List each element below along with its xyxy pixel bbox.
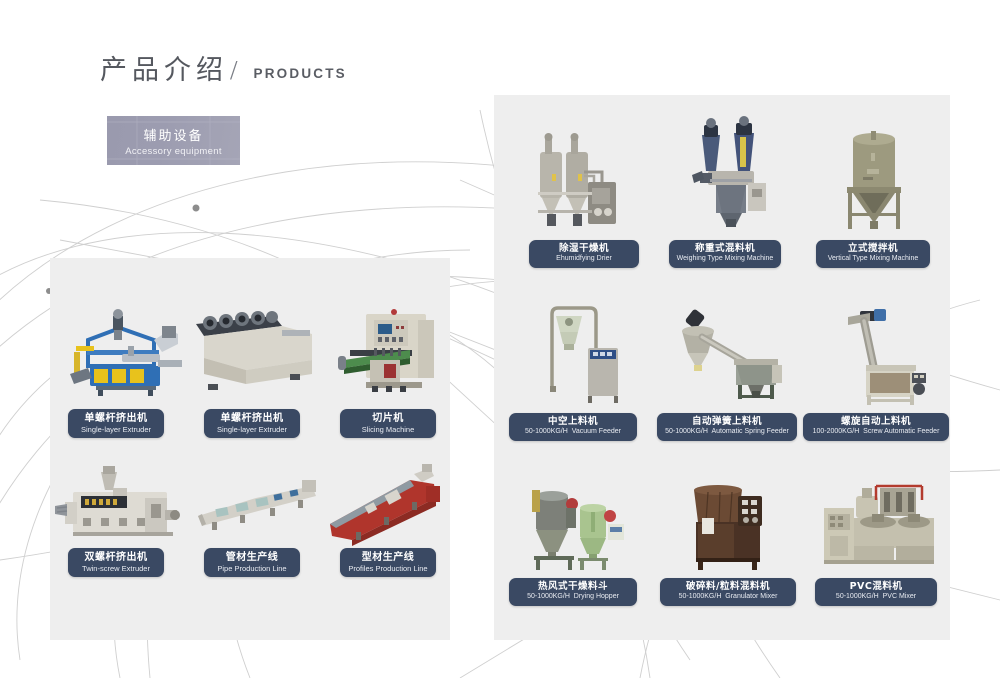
label-cn: 破碎料/粒料混料机: [686, 582, 770, 593]
capacity: 50-1000KG/H: [665, 428, 708, 435]
product-label-vertical-mixing-machine[interactable]: 立式搅拌机 Vertical Type Mixing Machine: [816, 240, 930, 268]
product-card-weighing-mixing-machine[interactable]: [682, 115, 778, 230]
product-label-profiles-production-line[interactable]: 型材生产线 Profiles Production Line: [340, 548, 436, 577]
label-cn: 单螺杆挤出机: [85, 413, 148, 425]
page-title-en: PRODUCTS: [254, 66, 347, 81]
label-en: Ehumidfying Drier: [556, 255, 612, 263]
product-card-twin-screw-extruder[interactable]: [55, 458, 200, 550]
label-cn: PVC混料机: [850, 582, 903, 593]
product-label-twin-screw-extruder[interactable]: 双螺杆挤出机 Twin-screw Extruder: [68, 548, 164, 577]
product-card-granulator-mixer[interactable]: [684, 482, 776, 574]
product-card-drying-hopper[interactable]: [520, 478, 635, 576]
product-card-slicing-machine[interactable]: [330, 298, 445, 398]
pvc-mixer-photo: [818, 478, 940, 574]
product-label-granulator-mixer[interactable]: 破碎料/粒料混料机 50-1000KG/H Granulator Mixer: [660, 578, 796, 606]
vertical-mixing-machine-photo: [835, 125, 913, 233]
label-en: Pipe Production Line: [217, 564, 286, 573]
label-en: 50-1000KG/H Vacuum Feeder: [525, 428, 621, 436]
label-en: Slicing Machine: [362, 425, 415, 434]
label-cn: 型材生产线: [362, 552, 415, 564]
label-cn: 中空上料机: [548, 417, 598, 428]
label-en-text: Screw Automatic Feeder: [863, 428, 939, 435]
category-badge-label-cn: 辅助设备: [143, 125, 203, 144]
page-title-cn: 产品介绍: [100, 48, 228, 87]
product-label-single-layer-extruder-1[interactable]: 单螺杆挤出机 Single-layer Extruder: [68, 409, 164, 438]
vacuum-feeder-photo: [528, 300, 628, 405]
label-en: Vertical Type Mixing Machine: [828, 255, 919, 263]
label-en-text: Vacuum Feeder: [572, 428, 621, 435]
label-cn: 双螺杆挤出机: [85, 552, 148, 564]
product-label-single-layer-extruder-2[interactable]: 单螺杆挤出机 Single-layer Extruder: [204, 409, 300, 438]
product-card-single-layer-extruder-2[interactable]: [190, 300, 320, 395]
single-layer-extruder-roller-photo: [190, 300, 320, 395]
drying-hopper-photo: [520, 478, 635, 576]
pipe-production-line-photo: [192, 472, 320, 538]
product-catalog-page: 产品介绍 / PRODUCTS 辅助设备 Accessory equipment: [0, 0, 1000, 678]
category-badge-label-en: Accessory equipment: [125, 146, 222, 157]
label-cn: 单螺杆挤出机: [221, 413, 284, 425]
label-en-text: Automatic Spring Feeder: [711, 428, 788, 435]
product-card-single-layer-extruder-1[interactable]: [58, 300, 193, 400]
page-header: 产品介绍 / PRODUCTS: [100, 48, 347, 87]
label-en: 50-1000KG/H Granulator Mixer: [679, 593, 778, 601]
screw-automatic-feeder-photo: [824, 295, 932, 407]
profiles-production-line-photo: [326, 462, 451, 548]
product-label-vacuum-feeder[interactable]: 中空上料机 50-1000KG/H Vacuum Feeder: [509, 413, 637, 441]
product-label-pipe-production-line[interactable]: 管材生产线 Pipe Production Line: [204, 548, 300, 577]
product-label-screw-automatic-feeder[interactable]: 螺旋自动上料机 100-2000KG/H Screw Automatic Fee…: [803, 413, 949, 441]
capacity: 50-1000KG/H: [527, 593, 570, 600]
label-en: 50-1000KG/H Drying Hopper: [527, 593, 619, 601]
dehumidifying-drier-photo: [528, 130, 628, 230]
label-cn: 管材生产线: [226, 552, 279, 564]
label-cn: 螺旋自动上料机: [841, 417, 911, 428]
label-cn: 自动弹簧上料机: [692, 417, 762, 428]
label-en-text: Granulator Mixer: [725, 593, 777, 600]
product-card-vacuum-feeder[interactable]: [528, 300, 628, 405]
label-en: Single-layer Extruder: [81, 425, 151, 434]
product-card-dehumidifying-drier[interactable]: [528, 130, 628, 230]
label-en: Weighing Type Mixing Machine: [677, 255, 774, 263]
granulator-mixer-photo: [684, 482, 776, 574]
label-cn: 立式搅拌机: [848, 244, 898, 255]
product-card-pvc-mixer[interactable]: [818, 478, 940, 574]
product-card-screw-automatic-feeder[interactable]: [824, 295, 932, 407]
product-label-pvc-mixer[interactable]: PVC混料机 50-1000KG/H PVC Mixer: [815, 578, 937, 606]
label-cn: 称重式混料机: [695, 244, 755, 255]
label-en: Single-layer Extruder: [217, 425, 287, 434]
product-card-vertical-mixing-machine[interactable]: [835, 125, 913, 233]
label-en-text: Drying Hopper: [574, 593, 619, 600]
product-label-drying-hopper[interactable]: 热风式干燥料斗 50-1000KG/H Drying Hopper: [509, 578, 637, 606]
label-cn: 除湿干燥机: [559, 244, 609, 255]
title-separator: /: [230, 55, 238, 86]
label-en: 100-2000KG/H Screw Automatic Feeder: [813, 428, 940, 436]
label-en: Twin-screw Extruder: [82, 564, 150, 573]
label-en-text: PVC Mixer: [883, 593, 916, 600]
product-card-profiles-production-line[interactable]: [326, 462, 451, 548]
capacity: 50-1000KG/H: [836, 593, 879, 600]
label-en: 50-1000KG/H Automatic Spring Feeder: [665, 428, 789, 436]
product-label-slicing-machine[interactable]: 切片机 Slicing Machine: [340, 409, 436, 438]
label-en: 50-1000KG/H PVC Mixer: [836, 593, 916, 601]
product-label-weighing-mixing-machine[interactable]: 称重式混料机 Weighing Type Mixing Machine: [669, 240, 781, 268]
automatic-spring-feeder-photo: [668, 303, 786, 403]
single-layer-extruder-photo: [58, 300, 193, 400]
product-label-dehumidifying-drier[interactable]: 除湿干燥机 Ehumidfying Drier: [529, 240, 639, 268]
capacity: 50-1000KG/H: [525, 428, 568, 435]
product-label-automatic-spring-feeder[interactable]: 自动弹簧上料机 50-1000KG/H Automatic Spring Fee…: [657, 413, 797, 441]
weighing-mixing-machine-photo: [682, 115, 778, 230]
label-cn: 热风式干燥料斗: [538, 582, 608, 593]
label-cn: 切片机: [372, 413, 404, 425]
slicing-machine-photo: [330, 298, 445, 398]
product-card-pipe-production-line[interactable]: [192, 472, 320, 538]
product-card-automatic-spring-feeder[interactable]: [668, 303, 786, 403]
capacity: 50-1000KG/H: [679, 593, 722, 600]
capacity: 100-2000KG/H: [813, 428, 860, 435]
twin-screw-extruder-photo: [55, 458, 200, 550]
label-en: Profiles Production Line: [348, 564, 427, 573]
category-badge-accessory-equipment[interactable]: 辅助设备 Accessory equipment: [107, 116, 240, 165]
